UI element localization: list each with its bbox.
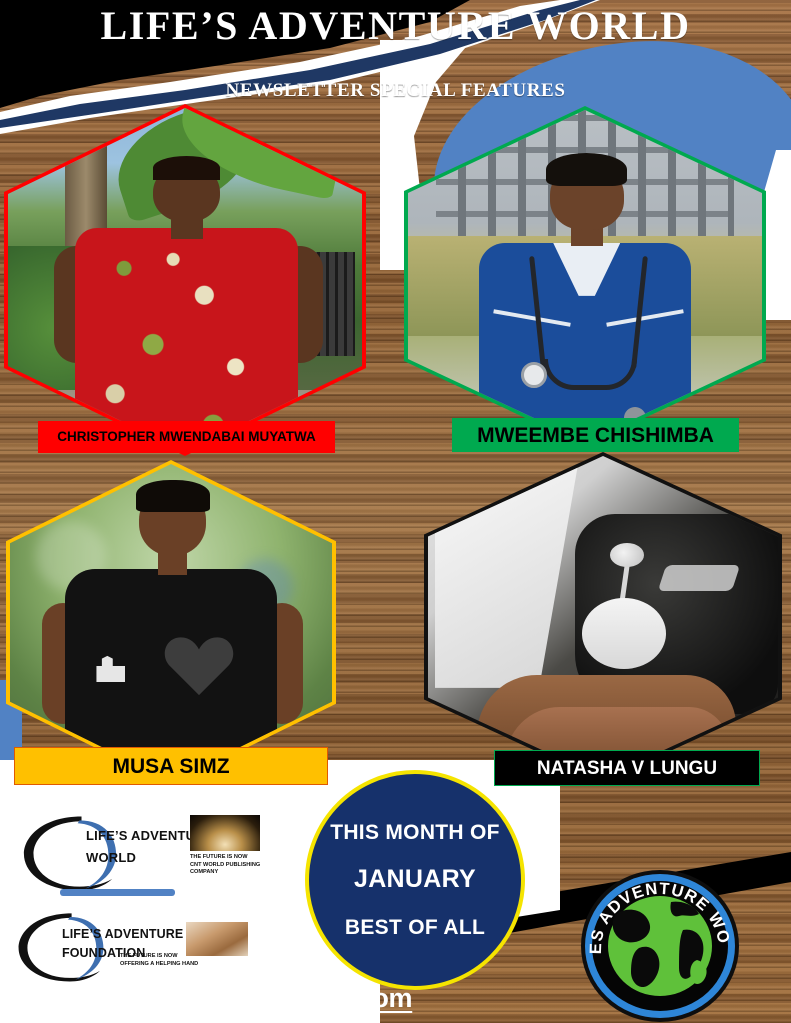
feature-card-natasha[interactable] xyxy=(424,452,782,782)
contact-email[interactable]: lifesadventureworld@gmail.com xyxy=(6,983,412,1014)
feature-name: NATASHA V LUNGU xyxy=(537,759,717,778)
page-subtitle: NEWSLETTER SPECIAL FEATURES xyxy=(0,80,791,102)
photo-mweembe xyxy=(408,110,762,442)
logo-tagline-line1: THE FUTURE IS NOW xyxy=(190,854,248,861)
newsletter-poster: LIFE’S ADVENTURE WORLD NEWSLETTER SPECIA… xyxy=(0,0,791,1023)
photo-christopher xyxy=(8,108,362,452)
open-book-image xyxy=(190,815,260,851)
feature-card-musa[interactable] xyxy=(6,460,336,785)
logo-blue-bar xyxy=(60,889,175,896)
month-badge-line3: BEST OF ALL xyxy=(345,916,485,940)
hex-photo-clip xyxy=(10,464,332,781)
feature-name: MWEEMBE CHISHIMBA xyxy=(477,425,714,446)
logo-tagline-line1: THE FUTURE IS NOW xyxy=(120,953,178,960)
logo-tagline-line2: CNT WORLD PUBLISHING COMPANY xyxy=(190,862,275,876)
logo-lifes-adventure-world-foundation: LIFE’S ADVENTURE WORLD FOUNDATION THE FU… xyxy=(10,905,275,983)
logo-name-line2: WORLD xyxy=(86,850,136,865)
feature-name: MUSA SIMZ xyxy=(112,756,229,777)
logo-lifes-adventure-world: LIFE’S ADVENTURE WORLD THE FUTURE IS NOW… xyxy=(10,805,275,885)
hex-photo-clip xyxy=(8,108,362,452)
name-plate-christopher: CHRISTOPHER MWENDABAI MUYATWA xyxy=(38,421,335,453)
name-plate-mweembe: MWEEMBE CHISHIMBA xyxy=(452,418,739,452)
globe-badge: LIFES ADVENTURE WORLD xyxy=(579,868,741,1023)
heart-icon xyxy=(161,629,237,699)
logo-tagline-line2: OFFERING A HELPING HAND xyxy=(120,961,198,968)
helping-hands-image xyxy=(186,922,248,956)
photo-natasha xyxy=(428,456,778,778)
hex-photo-clip xyxy=(408,110,762,442)
feature-name: CHRISTOPHER MWENDABAI MUYATWA xyxy=(57,430,316,444)
feature-card-mweembe[interactable] xyxy=(404,106,766,446)
name-plate-natasha: NATASHA V LUNGU xyxy=(494,750,760,786)
photo-musa xyxy=(10,464,332,781)
hex-photo-clip xyxy=(428,456,778,778)
name-plate-musa: MUSA SIMZ xyxy=(14,747,328,785)
month-badge: THIS MONTH OF JANUARY BEST OF ALL xyxy=(305,770,525,990)
page-title: LIFE’S ADVENTURE WORLD xyxy=(0,2,791,49)
month-badge-month: JANUARY xyxy=(354,865,476,894)
month-badge-line1: THIS MONTH OF xyxy=(330,821,500,845)
feature-card-christopher[interactable] xyxy=(4,104,366,456)
